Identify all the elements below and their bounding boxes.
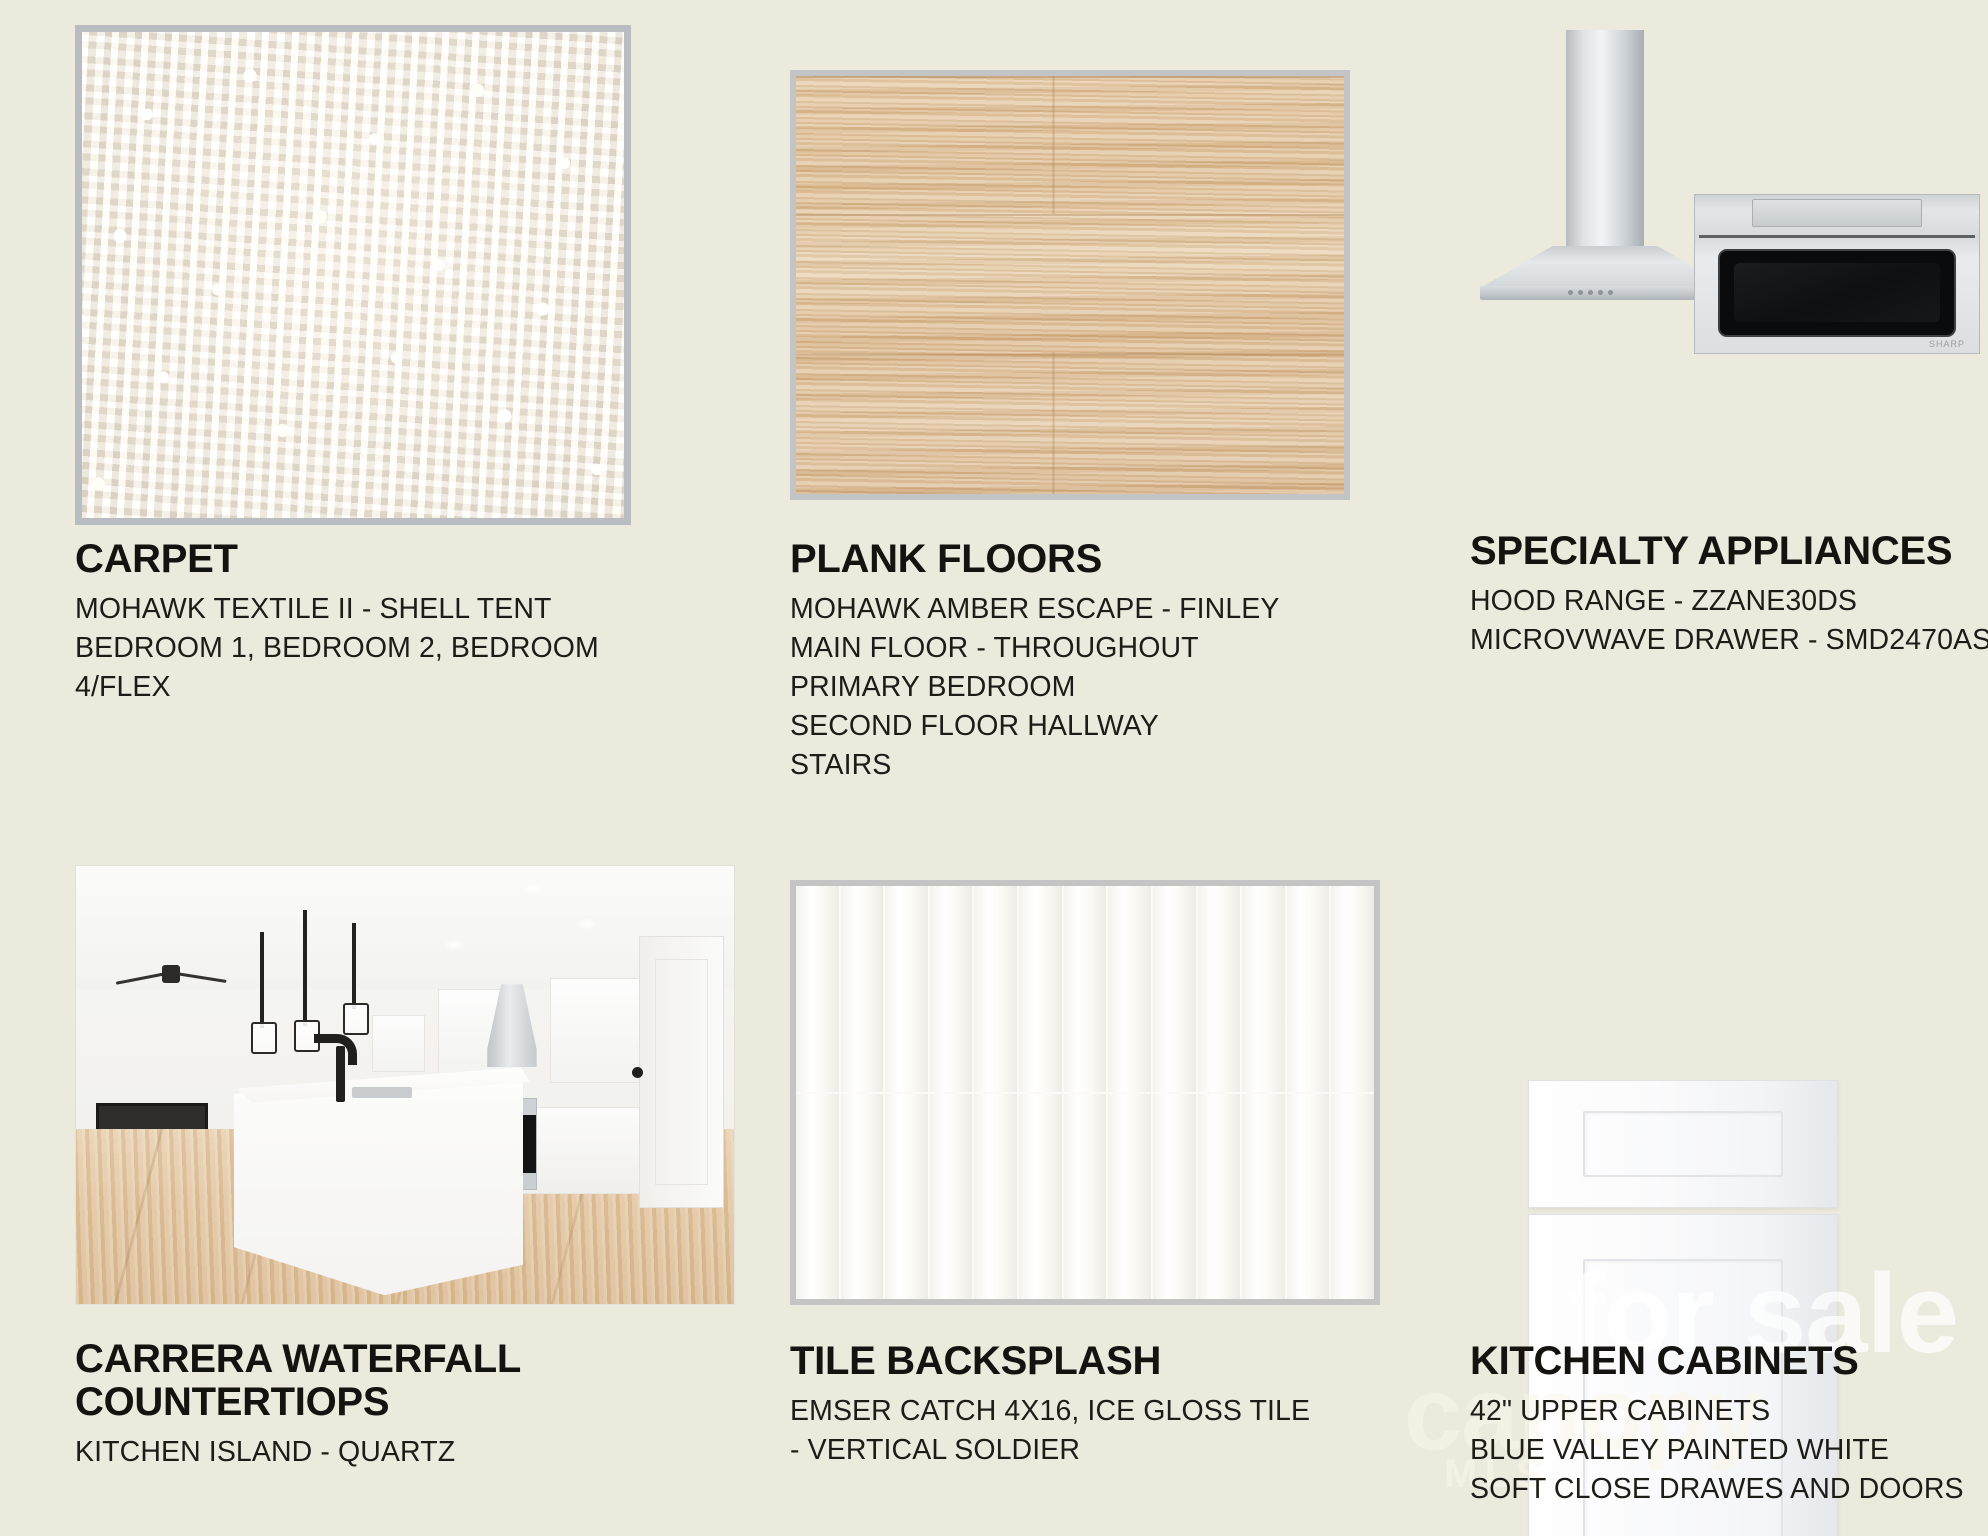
tile-unit [1064,886,1107,1092]
countertops-detail-line-1: KITCHEN ISLAND - QUARTZ [75,1433,715,1472]
tile-unit [1153,886,1196,1092]
hood-range-image [1480,30,1730,305]
tile-unit [1198,1094,1241,1300]
cabinet-drawer-front [1528,1080,1838,1208]
hood-button-icon [1568,290,1573,295]
plank-floors-detail-line-4: SECOND FLOOR HALLWAY [790,707,1390,746]
tile-unit [1331,886,1374,1092]
countertops-title: CARRERA WATERFALL COUNTERTIOPS [75,1338,715,1424]
kitchen-cabinets-detail-line-3: SOFT CLOSE DRAWES AND DOORS [1470,1470,1988,1509]
tile-unit [1287,1094,1330,1300]
tile-backsplash-detail-line-1: EMSER CATCH 4X16, ICE GLOSS TILE [790,1392,1390,1431]
tile-unit [796,886,839,1092]
recessed-light-icon [523,884,543,894]
tile-unit [841,1094,884,1300]
island-faucet-icon [336,1046,345,1102]
kitchen-panel-door [639,936,725,1208]
tile-unit [1108,886,1151,1092]
carpet-texture [82,32,624,518]
recessed-light-icon [576,919,596,929]
specialty-appliances-detail-line-1: HOOD RANGE - ZZANE30DS [1470,582,1988,621]
kitchen-cabinets-title: KITCHEN CABINETS [1470,1340,1988,1383]
specialty-appliances-detail-lines: HOOD RANGE - ZZANE30DS MICROVWAVE DRAWER… [1470,582,1988,660]
tile-unit [1198,886,1241,1092]
kitchen-cabinets-caption: KITCHEN CABINETS 42" UPPER CABINETS BLUE… [1470,1340,1988,1509]
countertops-caption: CARRERA WATERFALL COUNTERTIOPS KITCHEN I… [75,1338,715,1472]
pendant-light-icon [352,923,356,1009]
carpet-detail-line-2: BEDROOM 1, BEDROOM 2, BEDROOM [75,629,665,668]
tile-unit [1019,886,1062,1092]
plank-floors-detail-line-2: MAIN FLOOR - THROUGHOUT [790,629,1390,668]
tile-unit [1064,1094,1107,1300]
tile-backsplash-caption: TILE BACKSPLASH EMSER CATCH 4X16, ICE GL… [790,1340,1390,1470]
carpet-detail-line-1: MOHAWK TEXTILE II - SHELL TENT [75,590,665,629]
fan-blade [116,972,167,984]
tile-unit [974,1094,1017,1300]
specialty-appliances-media-panel: SHARP [1470,30,1980,370]
countertops-media-panel [75,865,735,1305]
microwave-drawer-image: SHARP [1694,194,1980,354]
plank-floors-detail-line-3: PRIMARY BEDROOM [790,668,1390,707]
hood-button-icon [1578,290,1583,295]
tile-backsplash-detail-line-2: - VERTICAL SOLDIER [790,1431,1390,1470]
specialty-appliances-title: SPECIALTY APPLIANCES [1470,530,1988,573]
kitchen-photo [75,865,735,1305]
plank-floors-detail-lines: MOHAWK AMBER ESCAPE - FINLEY MAIN FLOOR … [790,590,1390,785]
tile-unit [930,886,973,1092]
wood-grain-texture [796,76,1344,494]
tile-unit [930,1094,973,1300]
kitchen-cabinets-detail-line-1: 42" UPPER CABINETS [1470,1392,1988,1431]
tile-swatch-image [790,880,1380,1305]
tile-backsplash-title: TILE BACKSPLASH [790,1340,1390,1383]
plank-floors-title: PLANK FLOORS [790,538,1390,581]
carpet-detail-lines: MOHAWK TEXTILE II - SHELL TENT BEDROOM 1… [75,590,665,707]
tile-backsplash-detail-lines: EMSER CATCH 4X16, ICE GLOSS TILE - VERTI… [790,1392,1390,1470]
specialty-appliances-caption: SPECIALTY APPLIANCES HOOD RANGE - ZZANE3… [1470,530,1988,660]
hood-control-buttons [1568,290,1613,295]
hood-button-icon [1588,290,1593,295]
tile-unit [1153,1094,1196,1300]
microwave-handle [1752,199,1922,227]
plank-floors-media-panel [790,70,1350,500]
tile-unit [1019,1094,1062,1300]
microwave-body: SHARP [1694,194,1980,354]
carpet-caption: CARPET MOHAWK TEXTILE II - SHELL TENT BE… [75,538,665,707]
hood-button-icon [1598,290,1603,295]
plank-floors-detail-line-5: STAIRS [790,746,1390,785]
tile-unit [1242,1094,1285,1300]
plank-floors-caption: PLANK FLOORS MOHAWK AMBER ESCAPE - FINLE… [790,538,1390,785]
tile-backsplash-media-panel [790,880,1380,1305]
kitchen-cabinets-detail-lines: 42" UPPER CABINETS BLUE VALLEY PAINTED W… [1470,1392,1988,1509]
carpet-title: CARPET [75,538,665,581]
pendant-light-icon [303,910,307,1026]
microwave-seam [1699,235,1975,238]
hood-canopy [1480,246,1730,288]
tile-unit [1242,886,1285,1092]
kitchen-upper-cabinet [550,978,642,1083]
drawer-inset-panel [1583,1111,1783,1177]
specialty-appliances-detail-line-2: MICROVWAVE DRAWER - SMD2470AS [1470,621,1988,660]
carpet-swatch-image [75,25,631,525]
carpet-detail-line-3: 4/FLEX [75,668,665,707]
tile-grid [796,886,1374,1299]
hood-button-icon [1608,290,1613,295]
tile-unit [841,886,884,1092]
finish-selection-board: CARPET MOHAWK TEXTILE II - SHELL TENT BE… [0,0,1988,1536]
pendant-light-icon [260,932,264,1028]
plank-floor-swatch-image [790,70,1350,500]
kitchen-upper-cabinet [372,1015,425,1072]
kitchen-cabinets-detail-line-2: BLUE VALLEY PAINTED WHITE [1470,1431,1988,1470]
hood-chimney [1566,30,1644,250]
countertops-detail-lines: KITCHEN ISLAND - QUARTZ [75,1433,715,1472]
microwave-window [1718,249,1957,337]
tile-unit [796,1094,839,1300]
appliance-brand-label: SHARP [1929,339,1965,349]
tile-unit [974,886,1017,1092]
tile-unit [1331,1094,1374,1300]
tile-unit [885,1094,928,1300]
tile-unit [1108,1094,1151,1300]
plank-floors-detail-line-1: MOHAWK AMBER ESCAPE - FINLEY [790,590,1390,629]
tile-unit [885,886,928,1092]
carpet-media-panel [75,25,631,525]
tile-unit [1287,886,1330,1092]
fan-hub [162,965,180,983]
ceiling-fan-icon [115,962,227,988]
fan-blade [176,972,227,983]
island-sink [352,1087,411,1098]
